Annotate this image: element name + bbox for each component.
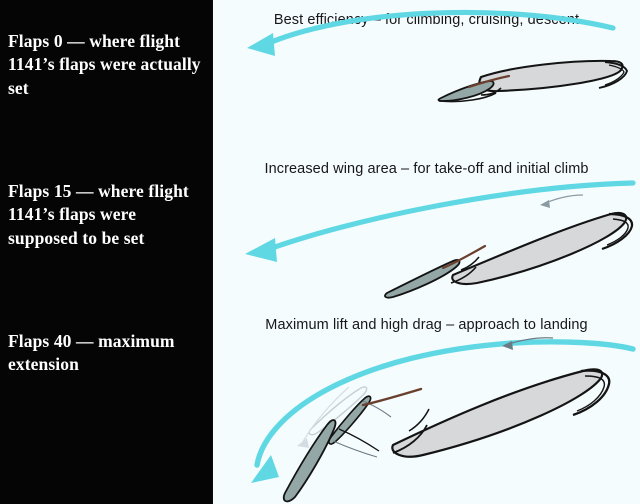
wing-body-flaps-15 (452, 195, 632, 284)
wing-diagram-flaps-40: Maximum lift and high drag – approach to… (213, 305, 640, 504)
right-diagram-panel: Best efficiency – for climbing, cruising… (213, 0, 640, 504)
left-caption-panel: Flaps 0 — where flight 1141’s flaps were… (0, 0, 213, 504)
leading-edge-slat-flaps-15 (385, 257, 479, 298)
wing-diagram-flaps-0: Best efficiency – for climbing, cruising… (213, 0, 640, 150)
flaps-illustration-page: Flaps 0 — where flight 1141’s flaps were… (0, 0, 640, 504)
wing-body-flaps-0 (479, 61, 627, 91)
flaps-15-label: Flaps 15 — where flight 1141’s flaps wer… (8, 180, 208, 250)
wing-svg-flaps-40 (213, 305, 640, 504)
airflow-arrow-flaps-0 (247, 12, 613, 56)
wing-svg-flaps-15 (213, 150, 640, 305)
flaps-40-label: Flaps 40 — maximum extension (8, 330, 208, 377)
wing-svg-flaps-0 (213, 0, 640, 150)
flaps-0-label: Flaps 0 — where flight 1141’s flaps were… (8, 30, 208, 100)
wing-diagram-flaps-15: Increased wing area – for take-off and i… (213, 150, 640, 305)
spar-line-flaps-40 (363, 389, 421, 405)
